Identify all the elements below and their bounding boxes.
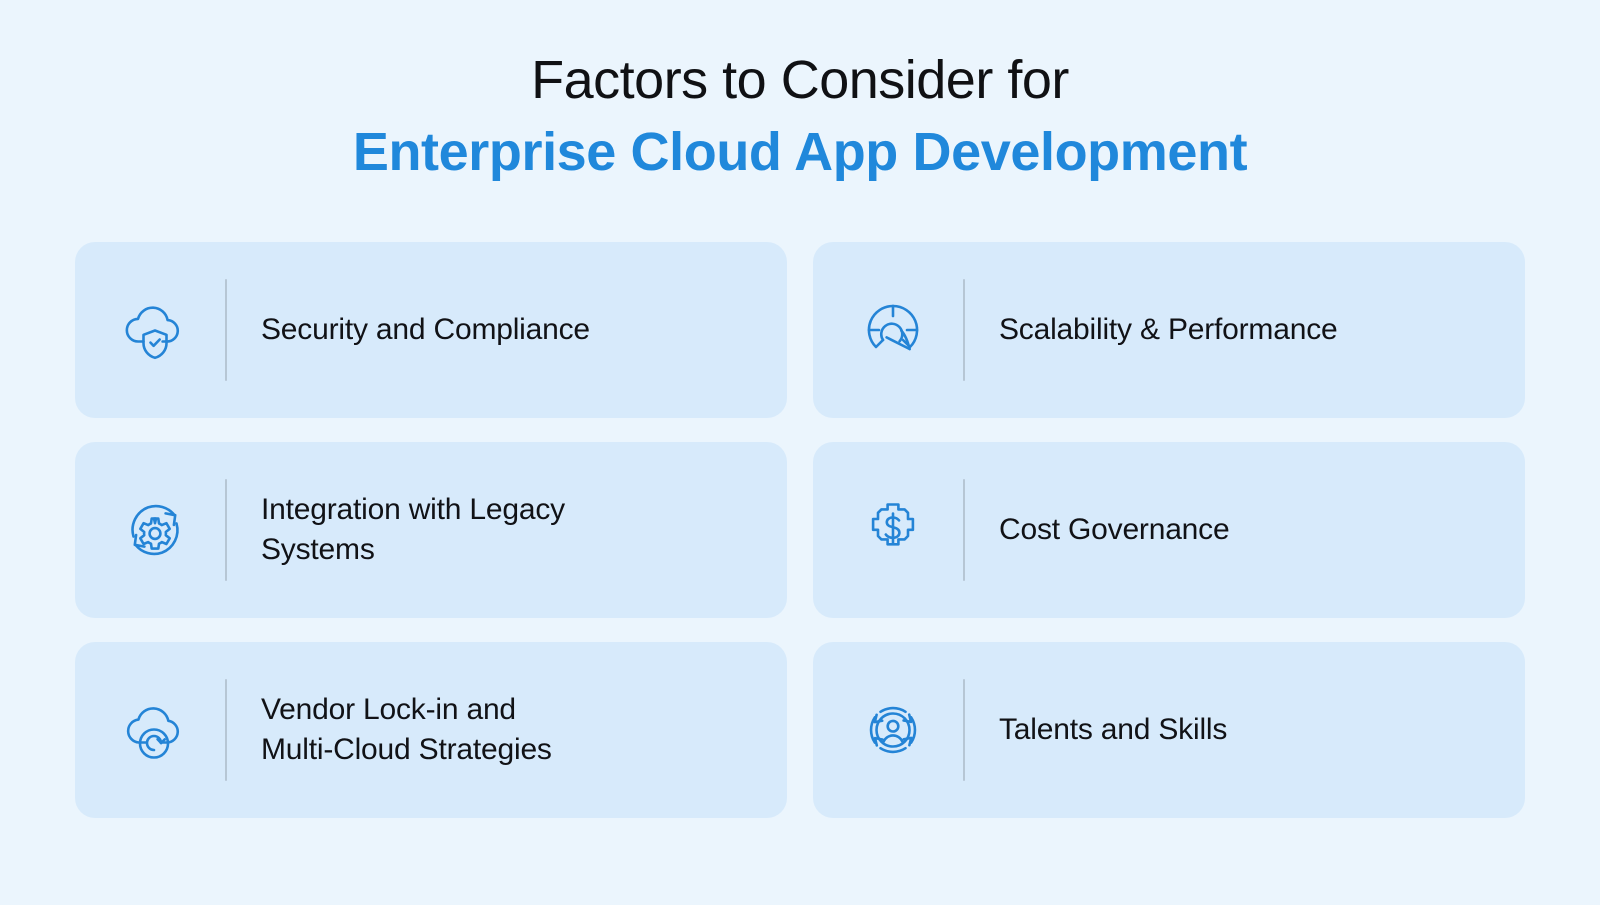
factor-card-label: Scalability & Performance [999, 310, 1503, 350]
factors-grid: Security and Compliance Scalability & Pe… [75, 242, 1525, 818]
card-divider [225, 279, 227, 381]
page-title: Factors to Consider for Enterprise Cloud… [0, 0, 1600, 186]
factor-card-label: Security and Compliance [261, 310, 765, 350]
factor-card-label: Integration with Legacy Systems [261, 490, 765, 569]
card-divider [963, 479, 965, 581]
infographic-page: Factors to Consider for Enterprise Cloud… [0, 0, 1600, 905]
factor-card-vendor-lock-in-and-multi-cloud-strategies[interactable]: Vendor Lock-in and Multi-Cloud Strategie… [75, 642, 787, 818]
card-divider [225, 479, 227, 581]
factor-card-talents-and-skills[interactable]: Talents and Skills [813, 642, 1525, 818]
speedometer-gauge-icon [855, 292, 931, 368]
cloud-refresh-icon [117, 692, 193, 768]
card-divider [225, 679, 227, 781]
factor-card-integration-with-legacy-systems[interactable]: Integration with Legacy Systems [75, 442, 787, 618]
gear-dollar-icon [855, 492, 931, 568]
person-rotating-arrows-icon [855, 692, 931, 768]
title-line-highlight: Enterprise Cloud App Development [0, 120, 1600, 186]
factor-card-scalability-and-performance[interactable]: Scalability & Performance [813, 242, 1525, 418]
title-line-primary: Factors to Consider for [0, 48, 1600, 114]
gear-sync-arrows-icon [117, 492, 193, 568]
card-divider [963, 279, 965, 381]
factor-card-label: Talents and Skills [999, 710, 1503, 750]
factor-card-security-and-compliance[interactable]: Security and Compliance [75, 242, 787, 418]
factor-card-label: Cost Governance [999, 510, 1503, 550]
factor-card-label: Vendor Lock-in and Multi-Cloud Strategie… [261, 690, 765, 769]
card-divider [963, 679, 965, 781]
factor-card-cost-governance[interactable]: Cost Governance [813, 442, 1525, 618]
cloud-shield-check-icon [117, 292, 193, 368]
